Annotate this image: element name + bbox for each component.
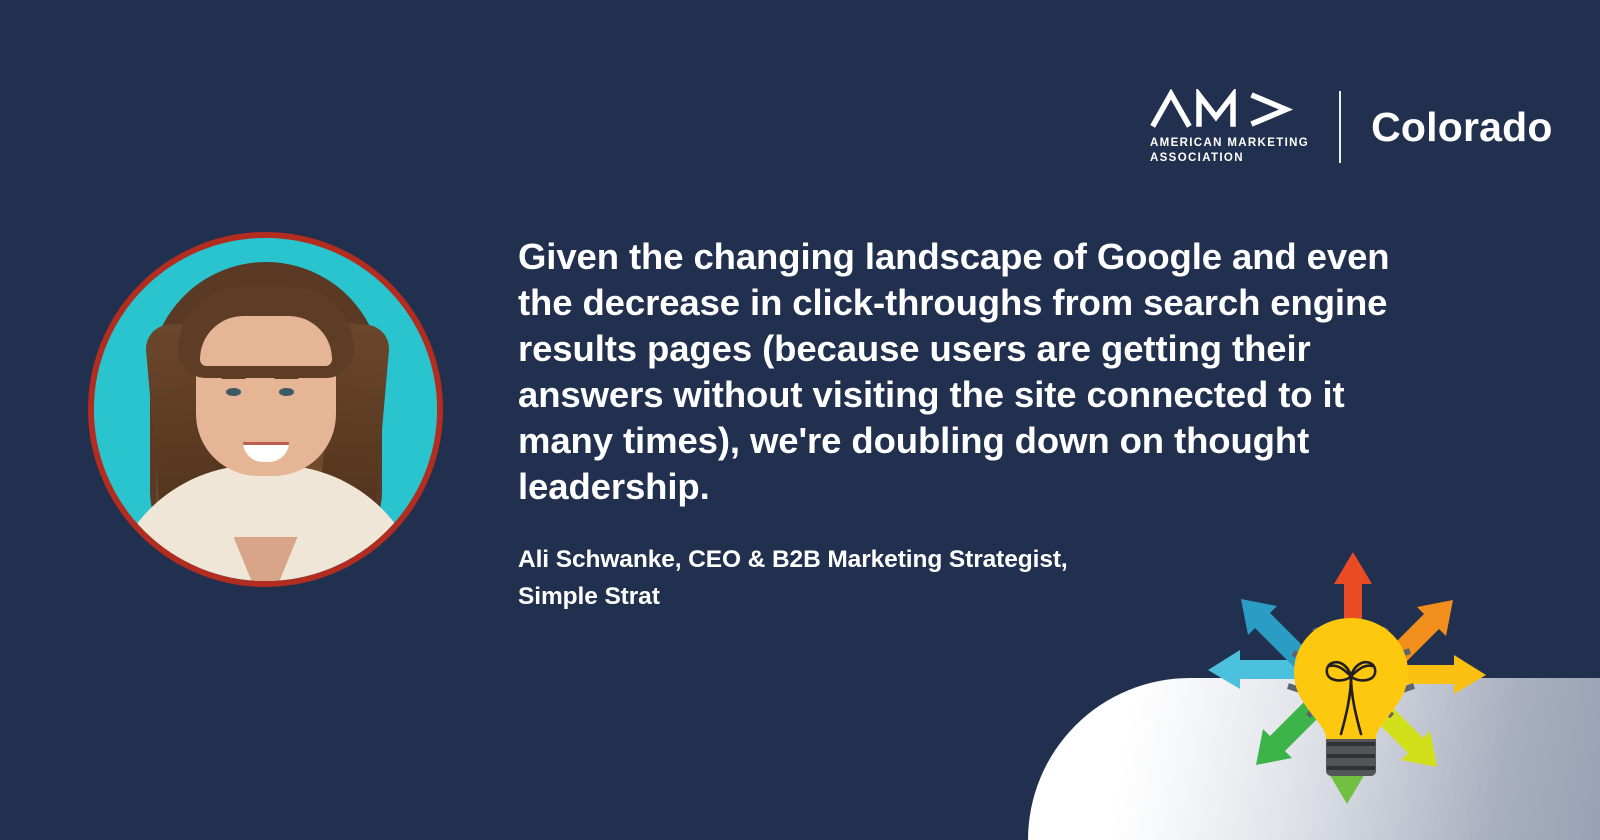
speaker-portrait (88, 232, 443, 587)
ama-org-line-1: AMERICAN MARKETING (1150, 136, 1309, 151)
quote-block: Given the changing landscape of Google a… (518, 234, 1418, 510)
logo-divider (1339, 91, 1341, 163)
ama-mark-icon (1150, 89, 1298, 129)
portrait-brow-right (274, 375, 299, 379)
bulb-base-icon (1326, 734, 1376, 776)
quote-text: Given the changing landscape of Google a… (518, 234, 1418, 510)
chapter-label: Colorado (1371, 107, 1553, 148)
ama-logo-block: AMERICAN MARKETING ASSOCIATION (1150, 89, 1339, 165)
portrait-fringe (178, 286, 354, 378)
portrait-eye-left (226, 388, 241, 396)
ama-colorado-logo: AMERICAN MARKETING ASSOCIATION Colorado (1150, 88, 1553, 166)
slide-canvas: AMERICAN MARKETING ASSOCIATION Colorado (0, 0, 1600, 840)
lightbulb-idea-graphic (1198, 520, 1508, 840)
speaker-photo (94, 238, 437, 581)
portrait-brow-left (221, 375, 246, 379)
quote-attribution: Ali Schwanke, CEO & B2B Marketing Strate… (518, 541, 1138, 615)
ama-org-name: AMERICAN MARKETING ASSOCIATION (1150, 136, 1309, 165)
portrait-vneck (234, 537, 298, 587)
portrait-eye-right (279, 388, 294, 396)
lightbulb-arrows-svg (1198, 520, 1508, 840)
ama-org-line-2: ASSOCIATION (1150, 151, 1309, 166)
